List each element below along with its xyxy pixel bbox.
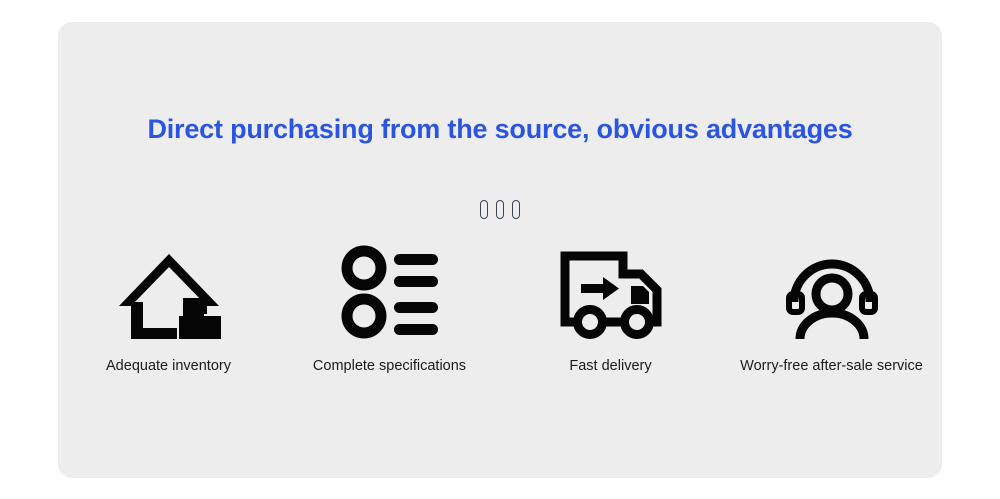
capsule-mark-1 xyxy=(480,200,488,219)
page-title: Direct purchasing from the source, obvio… xyxy=(58,114,942,145)
feature-item-fast-delivery: Fast delivery xyxy=(500,240,721,374)
feature-item-complete-specifications: Complete specifications xyxy=(279,240,500,374)
headset-support-icon xyxy=(780,240,884,344)
feature-list: Adequate inventory xyxy=(58,240,942,374)
feature-label: Adequate inventory xyxy=(106,358,231,374)
banner-card: Direct purchasing from the source, obvio… xyxy=(58,22,942,478)
feature-label: Complete specifications xyxy=(313,358,466,374)
feature-item-after-sale-service: Worry-free after-sale service xyxy=(721,240,942,374)
delivery-truck-icon xyxy=(559,240,663,344)
feature-item-adequate-inventory: Adequate inventory xyxy=(58,240,279,374)
capsule-mark-3 xyxy=(512,200,520,219)
warehouse-inventory-icon xyxy=(117,240,221,344)
feature-label: Worry-free after-sale service xyxy=(740,358,923,374)
promo-banner-page: Direct purchasing from the source, obvio… xyxy=(0,0,1000,499)
three-capsule-divider xyxy=(58,200,942,219)
capsule-mark-2 xyxy=(496,200,504,219)
specification-list-icon xyxy=(338,240,442,344)
feature-label: Fast delivery xyxy=(569,358,651,374)
